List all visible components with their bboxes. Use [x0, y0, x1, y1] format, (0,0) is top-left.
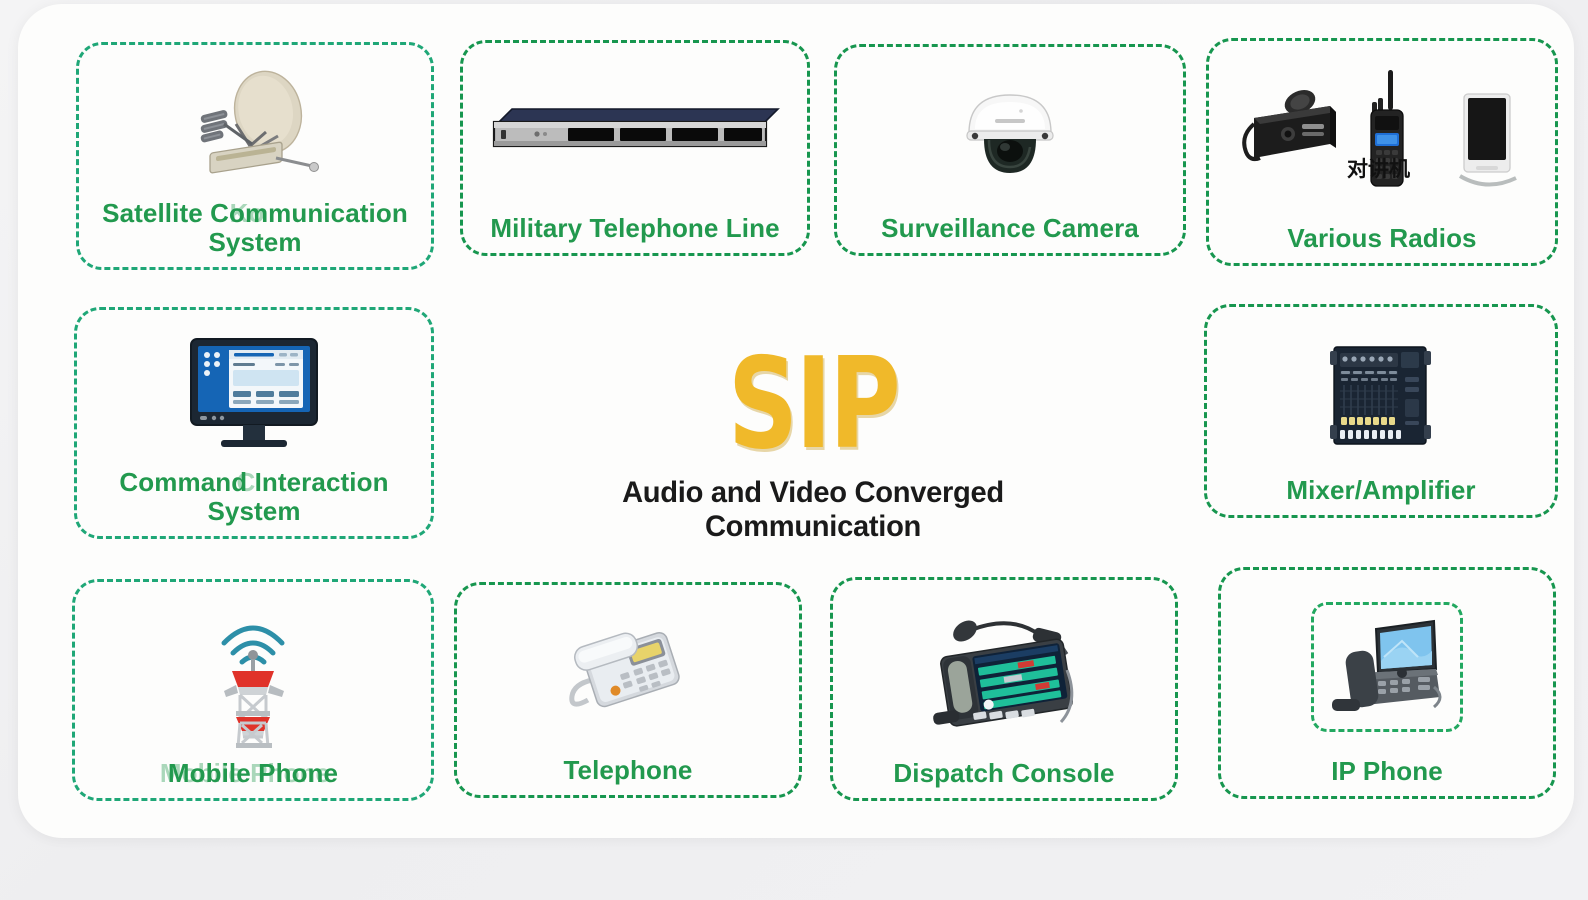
ip-phone-image-frame	[1221, 578, 1553, 757]
card-label: Various Radios	[1209, 224, 1555, 263]
card-military-telephone-line[interactable]: Military Telephone Line	[460, 40, 810, 256]
card-dispatch-console[interactable]: Dispatch Console	[830, 577, 1178, 801]
diagram-panel: Satellite Communication System	[18, 4, 1574, 838]
audio-mixer-icon	[1207, 315, 1555, 476]
radio-set-icon: 对讲机	[1209, 49, 1555, 224]
card-surveillance-camera[interactable]: Surveillance Camera	[834, 44, 1186, 256]
sip-logo-text: SIP	[611, 344, 1015, 464]
card-satellite-communication-system[interactable]: Satellite Communication System	[76, 42, 434, 270]
card-command-interaction-system[interactable]: Command Interaction System	[74, 307, 434, 539]
card-label: Surveillance Camera	[837, 214, 1183, 253]
ip-phone-inner-dashed-frame	[1311, 602, 1463, 732]
dispatch-console-icon	[833, 588, 1175, 759]
card-label: Telephone	[457, 756, 799, 795]
desktop-monitor-icon	[77, 318, 431, 468]
rack-switch-icon	[463, 51, 807, 214]
center-sip-block: SIP Audio and Video Converged Communicat…	[578, 344, 1048, 544]
card-various-radios[interactable]: 对讲机 Various Radios	[1206, 38, 1558, 266]
card-mobile-phone[interactable]: Mobile Phone	[72, 579, 434, 801]
dome-camera-icon	[837, 55, 1183, 214]
card-label: Mobile Phone	[75, 759, 431, 798]
card-telephone[interactable]: Telephone	[454, 582, 802, 798]
card-ip-phone[interactable]: IP Phone	[1218, 567, 1556, 799]
radio-chinese-label: 对讲机	[1347, 153, 1410, 183]
ip-video-phone-icon	[1322, 611, 1452, 723]
card-label: Military Telephone Line	[463, 214, 807, 253]
diagram-canvas: Satellite Communication System	[0, 0, 1588, 900]
satellite-dish-icon	[79, 53, 431, 199]
card-label: Satellite Communication System	[79, 199, 431, 267]
card-label: Dispatch Console	[833, 759, 1175, 798]
card-mixer-amplifier[interactable]: Mixer/Amplifier	[1204, 304, 1558, 518]
card-label: IP Phone	[1221, 757, 1553, 796]
desk-phone-icon	[457, 593, 799, 756]
card-label: Mixer/Amplifier	[1207, 476, 1555, 515]
cell-tower-icon	[75, 590, 431, 759]
sip-subtitle: Audio and Video Converged Communication	[585, 476, 1041, 544]
card-label: Command Interaction System	[77, 468, 431, 536]
